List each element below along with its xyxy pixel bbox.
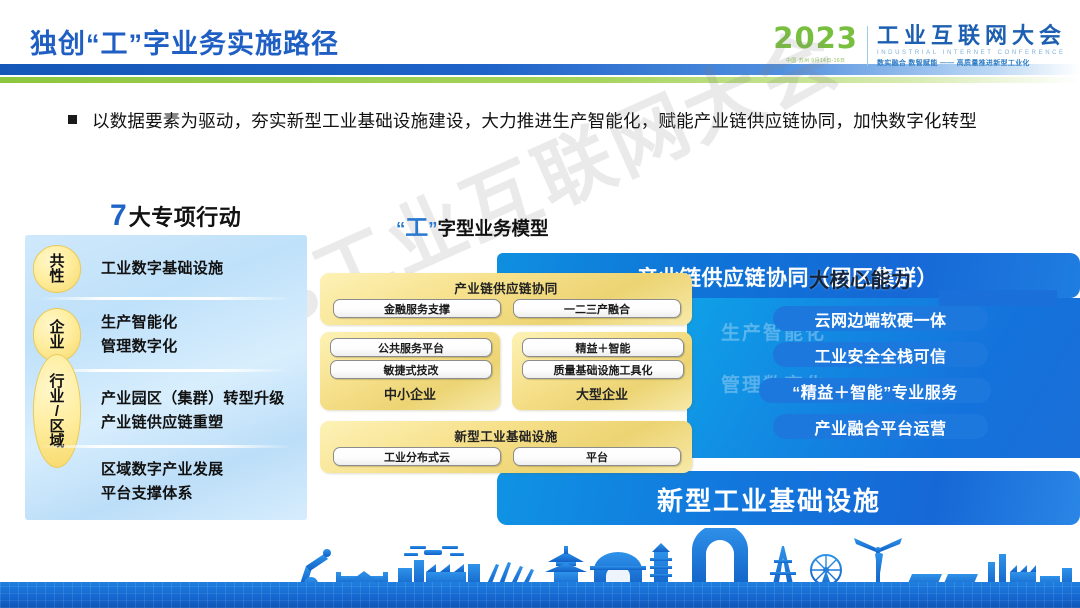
capability-button-2[interactable]: “精益＋智能”专业服务 (759, 378, 991, 403)
model-heading-quote-open: “ (396, 218, 405, 239)
model-bottom-button-0[interactable]: 工业分布式云 (333, 447, 501, 466)
logo-name-cn: 工业互联网大会 (877, 24, 1066, 47)
logo-title-block: 工业互联网大会 INDUSTRIAL INTERNET CONFERENCE 数… (877, 24, 1066, 68)
right-panel-top-overlay: 大核心能力 (809, 264, 912, 293)
left-panel-row: 区域数字产业发展平台支撑体系 (25, 449, 307, 515)
left-heading-label: 大专项行动 (129, 200, 242, 232)
model-left-card-label: 中小企业 (320, 384, 500, 403)
model-right-button-1[interactable]: 质量基础设施工具化 (522, 360, 684, 379)
model-top-card: 产业链供应链协同 金融服务支撑 一二三产融合 (320, 273, 692, 325)
badge-char: 业 (49, 389, 64, 404)
model-right-button-0[interactable]: 精益＋智能 (522, 338, 684, 357)
badge-char: 性 (49, 269, 64, 284)
model-bottom-button-1[interactable]: 平台 (513, 447, 681, 466)
badge-char: 区 (49, 419, 64, 434)
badge-char: 业 (49, 335, 64, 350)
left-panel-items: 区域数字产业发展平台支撑体系 (101, 458, 223, 507)
model-heading-quote-close: ” (428, 218, 437, 239)
left-panel-badge-0: 共性 (33, 245, 81, 293)
left-panel-row: 行业/区域产业园区（集群）转型升级产业链供应链重塑 (25, 373, 307, 449)
skyline-base (0, 582, 1080, 608)
conference-logo: 2023 中国·苏州 9月14日-16日 工业互联网大会 INDUSTRIAL … (773, 24, 1066, 68)
bullet-square-icon (68, 115, 77, 124)
left-panel-separator (39, 297, 293, 300)
left-panel-items: 产业园区（集群）转型升级产业链供应链重塑 (101, 387, 285, 436)
left-panel-badge-slot: 共性 (25, 239, 89, 299)
model-stack: 产业链供应链协同 金融服务支撑 一二三产融合 公共服务平台 敏捷式技改 中小企业… (320, 273, 692, 325)
left-panel-item-2-0[interactable]: 产业园区（集群）转型升级 (101, 387, 285, 411)
model-right-card-label: 大型企业 (512, 384, 692, 403)
left-panel-item-0-0[interactable]: 工业数字基础设施 (101, 257, 223, 281)
left-panel-badge-slot (25, 449, 89, 515)
logo-divider (867, 26, 868, 66)
bullet-text: 以数据要素为驱动，夯实新型工业基础设施建设，大力推进生产智能化，赋能产业链供应链… (92, 106, 977, 137)
left-panel-item-1-0[interactable]: 生产智能化 (101, 311, 178, 335)
model-top-card-title: 产业链供应链协同 (320, 273, 692, 297)
capability-button-0[interactable]: 云网边端软硬一体 (773, 306, 988, 331)
left-panel-item-1-1[interactable]: 管理数字化 (101, 335, 178, 359)
badge-char: 共 (49, 254, 64, 269)
slide: 独创“工”字业务实施路径 2023 中国·苏州 9月14日-16日 工业互联网大… (0, 0, 1080, 608)
model-top-button-1[interactable]: 一二三产融合 (513, 299, 681, 318)
left-panel-items: 生产智能化管理数字化 (101, 311, 178, 360)
model-heading-rest: 字型业务模型 (438, 218, 549, 239)
badge-char: 企 (49, 320, 64, 335)
model-heading: “工”字型业务模型 (396, 208, 549, 242)
badge-char: / (49, 404, 64, 419)
left-panel-item-2-1[interactable]: 产业链供应链重塑 (101, 411, 285, 435)
logo-year: 2023 (773, 24, 858, 53)
right-panel-mid: 生产智能化 管理数字化 云网边端软硬一体 工业安全全栈可信 “精益＋智能”专业服… (687, 298, 1080, 458)
left-panel-badge-slot: 行业/区域 (25, 373, 89, 449)
badge-char: 行 (49, 374, 64, 389)
model-heading-glyph: 工 (405, 214, 428, 240)
logo-year-block: 2023 中国·苏州 9月14日-16日 (773, 24, 867, 64)
header-divider-green (0, 77, 1080, 83)
logo-location: 中国·苏州 9月14日-16日 (786, 57, 846, 64)
model-left-button-1[interactable]: 敏捷式技改 (330, 360, 492, 379)
model-top-button-0[interactable]: 金融服务支撑 (333, 299, 501, 318)
logo-slogan: 数实融合 数智赋能 —— 高质量推进新型工业化 (877, 58, 1066, 68)
model-bottom-card: 新型工业基础设施 工业分布式云 平台 (320, 421, 692, 473)
seven-actions-panel: 共性工业数字基础设施企业生产智能化管理数字化行业/区域产业园区（集群）转型升级产… (25, 235, 307, 520)
model-right-card: 精益＋智能 质量基础设施工具化 大型企业 (512, 332, 692, 410)
left-panel-separator (39, 445, 293, 448)
left-heading: 7 大专项行动 (110, 200, 241, 232)
model-left-card: 公共服务平台 敏捷式技改 中小企业 (320, 332, 500, 410)
left-panel-items: 工业数字基础设施 (101, 257, 223, 281)
model-bottom-card-title: 新型工业基础设施 (320, 421, 692, 445)
page-title: 独创“工”字业务实施路径 (30, 22, 339, 61)
left-panel-row: 共性工业数字基础设施 (25, 239, 307, 299)
capability-button-3[interactable]: 产业融合平台运营 (773, 414, 988, 439)
model-left-button-0[interactable]: 公共服务平台 (330, 338, 492, 357)
right-panel-stub (939, 290, 1057, 306)
city-skyline (0, 528, 1080, 608)
left-panel-item-3-1[interactable]: 平台支撑体系 (101, 482, 223, 506)
left-panel-item-3-0[interactable]: 区域数字产业发展 (101, 458, 223, 482)
left-panel-separator (39, 369, 293, 372)
bullet-paragraph: 以数据要素为驱动，夯实新型工业基础设施建设，大力推进生产智能化，赋能产业链供应链… (68, 106, 1033, 137)
left-heading-number: 7 (110, 201, 127, 231)
right-panel-bottom-caption: 新型工业基础设施 (657, 481, 881, 518)
capability-button-1[interactable]: 工业安全全栈可信 (773, 342, 988, 367)
right-panel-bottom-bar: 新型工业基础设施 (497, 471, 1080, 525)
logo-name-en: INDUSTRIAL INTERNET CONFERENCE (877, 50, 1066, 56)
